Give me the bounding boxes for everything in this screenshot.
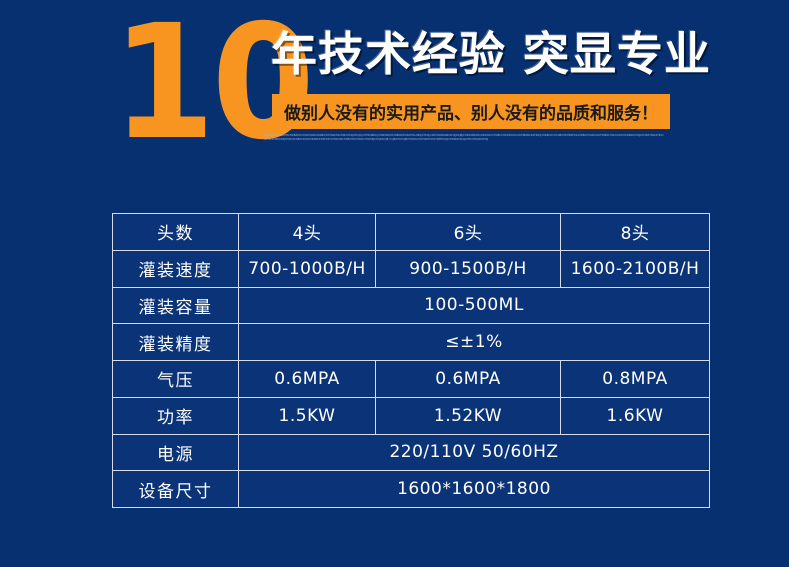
spec-row-label: 灌装容量 — [113, 287, 239, 324]
page-root: 10 年技术经验 突显专业 做别人没有的实用产品、别人没有的品质和服务！ KHX… — [0, 0, 789, 567]
spec-table-body: 头数4头6头8头灌装速度700-1000B/H900-1500B/H1600-2… — [113, 214, 710, 508]
hero-subtitle-banner: 做别人没有的实用产品、别人没有的品质和服务！ — [272, 94, 670, 129]
spec-row-value: 220/110V 50/60HZ — [239, 434, 710, 471]
table-row: 头数4头6头8头 — [113, 214, 710, 251]
hero-microtext: KHXBXDCHXBDHBXHDBXHDXHOXHOXDXOXBQXHXNXDW… — [264, 134, 664, 148]
spec-row-value: 900-1500B/H — [376, 250, 561, 287]
spec-row-value: 1600*1600*1800 — [239, 471, 710, 508]
spec-row-value: 700-1000B/H — [239, 250, 376, 287]
spec-row-value: 1.6KW — [561, 397, 710, 434]
table-row: 设备尺寸1600*1600*1800 — [113, 471, 710, 508]
spec-row-value: ≤±1% — [239, 324, 710, 361]
spec-row-value: 4头 — [239, 214, 376, 251]
spec-row-value: 1.5KW — [239, 397, 376, 434]
spec-row-label: 气压 — [113, 361, 239, 398]
spec-row-value: 6头 — [376, 214, 561, 251]
table-row: 电源220/110V 50/60HZ — [113, 434, 710, 471]
spec-row-label: 灌装精度 — [113, 324, 239, 361]
table-row: 灌装速度700-1000B/H900-1500B/H1600-2100B/H — [113, 250, 710, 287]
hero-banner: 10 年技术经验 突显专业 做别人没有的实用产品、别人没有的品质和服务！ KHX… — [0, 0, 789, 170]
spec-row-label: 头数 — [113, 214, 239, 251]
spec-row-value: 1600-2100B/H — [561, 250, 710, 287]
spec-row-value: 100-500ML — [239, 287, 710, 324]
spec-row-value: 0.6MPA — [376, 361, 561, 398]
spec-row-value: 0.8MPA — [561, 361, 710, 398]
spec-table-container: 头数4头6头8头灌装速度700-1000B/H900-1500B/H1600-2… — [112, 213, 709, 508]
table-row: 气压0.6MPA0.6MPA0.8MPA — [113, 361, 710, 398]
spec-row-label: 电源 — [113, 434, 239, 471]
spec-row-label: 灌装速度 — [113, 250, 239, 287]
hero-headline: 年技术经验 突显专业 — [271, 26, 691, 82]
table-row: 灌装精度≤±1% — [113, 324, 710, 361]
table-row: 灌装容量100-500ML — [113, 287, 710, 324]
spec-row-value: 8头 — [561, 214, 710, 251]
table-row: 功率1.5KW1.52KW1.6KW — [113, 397, 710, 434]
spec-row-value: 0.6MPA — [239, 361, 376, 398]
spec-table: 头数4头6头8头灌装速度700-1000B/H900-1500B/H1600-2… — [112, 213, 710, 508]
spec-row-label: 功率 — [113, 397, 239, 434]
spec-row-label: 设备尺寸 — [113, 471, 239, 508]
spec-row-value: 1.52KW — [376, 397, 561, 434]
hero-subtitle-text: 做别人没有的实用产品、别人没有的品质和服务！ — [284, 99, 658, 124]
